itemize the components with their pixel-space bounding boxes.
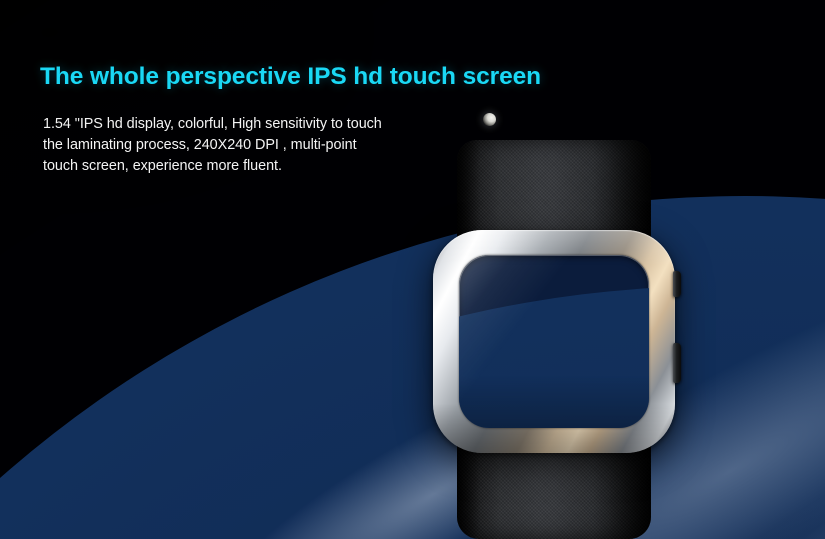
description-line-2: the laminating process, 240X240 DPI , mu…	[43, 135, 510, 156]
product-banner: The whole perspective IPS hd touch scree…	[0, 0, 825, 539]
description-line-1: 1.54 "IPS hd display, colorful, High sen…	[43, 114, 510, 135]
description-line-3: touch screen, experience more fluent.	[43, 156, 510, 177]
screen-earth-globe	[459, 255, 649, 428]
smartwatch-product-image	[433, 140, 675, 539]
headline: The whole perspective IPS hd touch scree…	[40, 63, 510, 91]
copy-block: The whole perspective IPS hd touch scree…	[40, 63, 510, 177]
watch-screen[interactable]	[459, 255, 649, 428]
watch-power-button[interactable]	[673, 343, 681, 383]
watch-crown-button[interactable]	[673, 271, 681, 297]
description: 1.54 "IPS hd display, colorful, High sen…	[40, 91, 510, 177]
screen-wallpaper	[459, 255, 649, 428]
watch-case	[433, 230, 675, 453]
